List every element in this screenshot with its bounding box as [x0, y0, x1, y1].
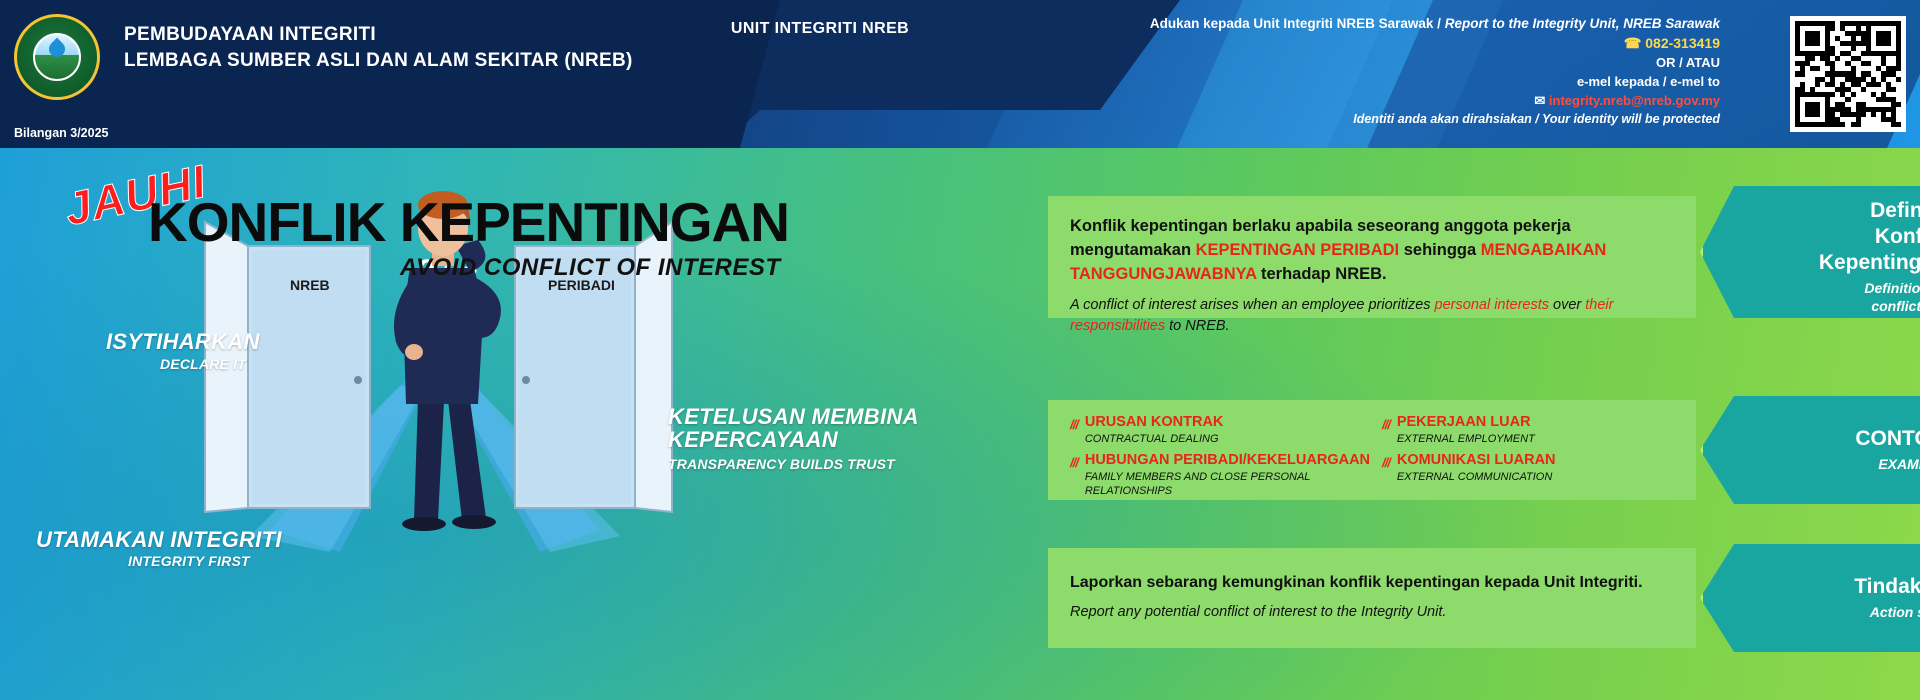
- phone-line[interactable]: ☎ 082-313419: [1100, 33, 1720, 53]
- poster: PEMBUDAYAAN INTEGRITI LEMBAGA SUMBER ASL…: [0, 0, 1920, 700]
- example-item-2-en: EXTERNAL EMPLOYMENT: [1397, 432, 1535, 446]
- definition-my-part3: terhadap NREB.: [1256, 265, 1386, 283]
- phone-number: 082-313419: [1645, 35, 1720, 51]
- example-arrow-en: EXAMPLE: [1855, 455, 1920, 473]
- action-arrow-my: Tindakan: [1854, 574, 1920, 600]
- phone-icon: ☎: [1624, 35, 1641, 51]
- svg-text:NREB: NREB: [290, 277, 330, 293]
- example-item-1-en: CONTRACTUAL DEALING: [1085, 432, 1224, 446]
- definition-en-red1: personal interests: [1435, 297, 1549, 313]
- quote-marks-icon: ///: [1382, 452, 1390, 470]
- example-item-2-my: PEKERJAAN LUAR: [1397, 414, 1535, 431]
- email-address[interactable]: integrity.nreb@nreb.gov.my: [1549, 93, 1720, 108]
- example-item-3-my: HUBUNGAN PERIBADI/KEKELUARGAAN: [1085, 452, 1370, 469]
- definition-arrow-text: Definisi Konflik Kepentingan Definition …: [1819, 198, 1920, 333]
- quote-marks-icon: ///: [1382, 414, 1390, 432]
- qr-code[interactable]: [1790, 16, 1906, 132]
- report-line-en: Report to the Integrity Unit, NREB Saraw…: [1445, 16, 1720, 31]
- qr-code-matrix: [1795, 21, 1901, 127]
- action-text-my: Laporkan sebarang kemungkinan konflik ke…: [1070, 572, 1676, 594]
- example-item-3: /// HUBUNGAN PERIBADI/KEKELUARGAAN FAMIL…: [1070, 452, 1370, 498]
- hero-subtitle: AVOID CONFLICT OF INTEREST: [400, 254, 781, 282]
- label-integrity-en: INTEGRITY FIRST: [128, 553, 250, 570]
- action-arrow-text: Tindakan Action step: [1854, 574, 1920, 621]
- definition-text-en: A conflict of interest arises when an em…: [1070, 295, 1676, 337]
- confidentiality-note: Identiti anda akan dirahsiakan / Your id…: [1100, 110, 1720, 129]
- definition-en-part1: A conflict of interest arises when an em…: [1070, 297, 1435, 313]
- action-arrow-panel: Tindakan Action step: [1700, 544, 1920, 652]
- definition-card: Konflik kepentingan berlaku apabila sese…: [1048, 196, 1696, 318]
- label-trust-my-1: KETELUSAN MEMBINA: [668, 405, 919, 429]
- example-item-4-en: EXTERNAL COMMUNICATION: [1397, 470, 1556, 484]
- definition-arrow-en-2: conflicts of: [1819, 297, 1920, 315]
- envelope-icon: ✉: [1534, 93, 1545, 108]
- example-item-4: /// KOMUNIKASI LUARAN EXTERNAL COMMUNICA…: [1382, 452, 1682, 498]
- example-item-1-my: URUSAN KONTRAK: [1085, 414, 1224, 431]
- report-line-my: Adukan kepada Unit Integriti NREB Sarawa…: [1150, 16, 1441, 31]
- action-card: Laporkan sebarang kemungkinan konflik ke…: [1048, 548, 1696, 648]
- email-line[interactable]: ✉ integrity.nreb@nreb.gov.my: [1100, 91, 1720, 110]
- label-trust-my-2: KEPERCAYAAN: [668, 428, 838, 452]
- action-text-en: Report any potential conflict of interes…: [1070, 602, 1676, 622]
- email-label: e-mel kepada / e-mel to: [1100, 72, 1720, 91]
- label-declare-my: ISYTIHARKAN: [106, 330, 260, 354]
- example-item-2: /// PEKERJAAN LUAR EXTERNAL EMPLOYMENT: [1382, 414, 1682, 446]
- definition-my-red1: KEPENTINGAN PERIBADI: [1196, 241, 1400, 259]
- example-item-1: /// URUSAN KONTRAK CONTRACTUAL DEALING: [1070, 414, 1370, 446]
- report-line: Adukan kepada Unit Integriti NREB Sarawa…: [1100, 14, 1720, 33]
- example-arrow-text: CONTOH EXAMPLE: [1855, 426, 1920, 473]
- hero-title: KONFLIK KEPENTINGAN: [148, 190, 789, 254]
- example-list: /// URUSAN KONTRAK CONTRACTUAL DEALING /…: [1048, 400, 1696, 500]
- quote-marks-icon: ///: [1070, 452, 1078, 470]
- definition-en-part2: over: [1549, 297, 1585, 313]
- definition-arrow-panel: Definisi Konflik Kepentingan Definition …: [1700, 186, 1920, 318]
- action-text: Laporkan sebarang kemungkinan konflik ke…: [1048, 548, 1696, 622]
- definition-text: Konflik kepentingan berlaku apabila sese…: [1048, 196, 1696, 337]
- definition-my-part2: sehingga: [1399, 241, 1481, 259]
- definition-arrow-my-2: Konflik: [1819, 224, 1920, 250]
- action-arrow-en: Action step: [1854, 603, 1920, 621]
- or-label: OR / ATAU: [1100, 53, 1720, 72]
- example-item-3-en: FAMILY MEMBERS AND CLOSE PERSONAL RELATI…: [1085, 470, 1370, 498]
- definition-text-my: Konflik kepentingan berlaku apabila sese…: [1070, 214, 1676, 286]
- label-trust-en: TRANSPARENCY BUILDS TRUST: [668, 456, 895, 473]
- definition-arrow-my-1: Definisi: [1819, 198, 1920, 224]
- quote-marks-icon: ///: [1070, 414, 1078, 432]
- example-arrow-panel: CONTOH EXAMPLE: [1700, 396, 1920, 504]
- header-report-block: Adukan kepada Unit Integriti NREB Sarawa…: [1100, 14, 1720, 129]
- example-item-4-my: KOMUNIKASI LUARAN: [1397, 452, 1556, 469]
- definition-en-part3: to NREB.: [1165, 318, 1229, 334]
- definition-arrow-my-3: Kepentingan: [1819, 250, 1920, 276]
- label-declare-en: DECLARE IT: [160, 356, 246, 373]
- definition-arrow-en-1: Definition of: [1819, 279, 1920, 297]
- example-arrow-my: CONTOH: [1855, 426, 1920, 452]
- label-integrity-my: UTAMAKAN INTEGRITI: [36, 528, 282, 552]
